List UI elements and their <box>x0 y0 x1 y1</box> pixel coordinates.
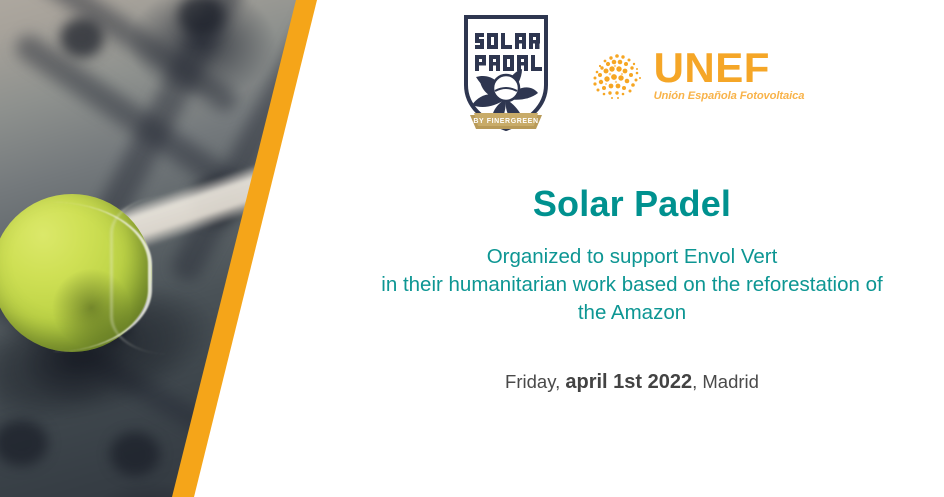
unef-logo: UNEF Unión Española Fotovoltaica <box>588 46 805 104</box>
description-line-2: in their humanitarian work based on the … <box>280 271 944 299</box>
court-photo <box>0 0 320 497</box>
logo-row: BY FINERGREEN SOLAR PADEL BY FINERGREEN <box>320 8 944 138</box>
net-shadow-knot <box>60 18 104 58</box>
unef-sphere-icon <box>588 46 646 104</box>
date-highlight: april 1st 2022 <box>565 371 692 393</box>
description-line-3: the Amazon <box>280 299 944 327</box>
unef-name: UNEF <box>654 48 770 88</box>
ball-seam-secondary <box>110 196 167 354</box>
date-suffix: , Madrid <box>692 371 759 392</box>
content-column: BY FINERGREEN SOLAR PADEL BY FINERGREEN <box>320 0 944 497</box>
description-line-1: Organized to support Envol Vert <box>280 243 944 271</box>
solar-padel-logo: BY FINERGREEN SOLAR PADEL BY FINERGREEN <box>460 11 552 136</box>
event-description: Organized to support Envol Vert in their… <box>280 243 944 327</box>
unef-wordmark: UNEF Unión Española Fotovoltaica <box>654 48 805 102</box>
date-prefix: Friday, <box>505 371 565 392</box>
page-title: Solar Padel <box>320 183 944 225</box>
event-date-location: Friday, april 1st 2022, Madrid <box>320 371 944 394</box>
net-shadow-knot <box>110 432 160 476</box>
shield-ribbon-text: BY FINERGREEN <box>473 118 538 125</box>
solar-padel-shield-icon: BY FINERGREEN <box>460 11 552 136</box>
tennis-ball <box>0 194 152 352</box>
event-banner: BY FINERGREEN SOLAR PADEL BY FINERGREEN <box>0 0 944 497</box>
unef-tagline: Unión Española Fotovoltaica <box>654 90 805 102</box>
